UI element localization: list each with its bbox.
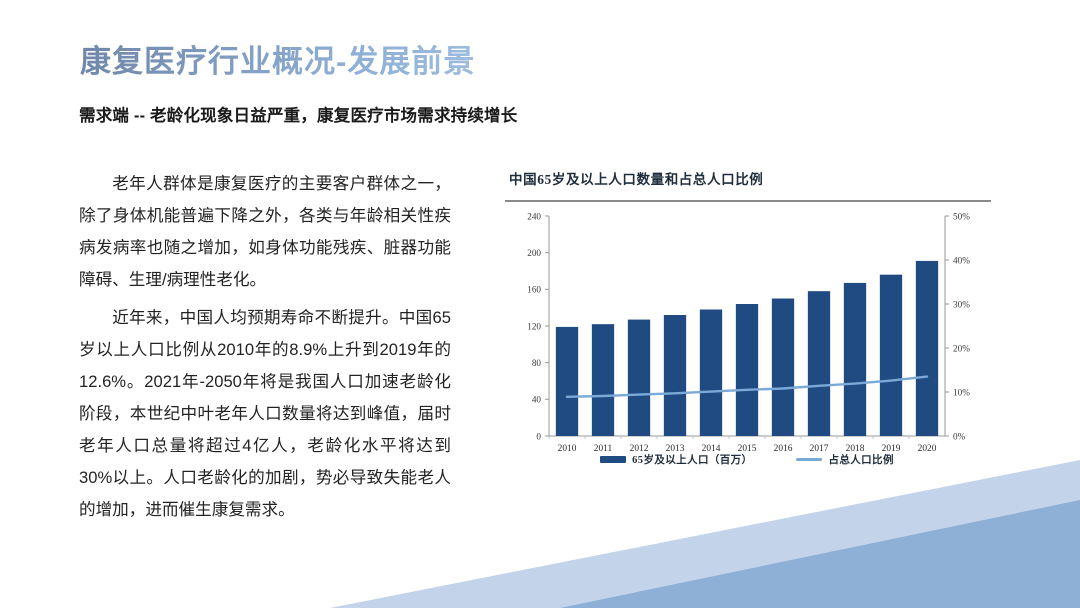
svg-text:80: 80 (532, 358, 542, 368)
svg-text:200: 200 (527, 248, 541, 258)
page-subtitle: 需求端 -- 老龄化现象日益严重，康复医疗市场需求持续增长 (79, 102, 517, 126)
svg-text:30%: 30% (953, 299, 970, 309)
chart-panel: 中国65岁及以上人口数量和占总人口比例 040801201602002400%1… (497, 160, 997, 532)
legend-label-line: 占总人口比例 (828, 452, 893, 467)
body-text-column: 老年人群体是康复医疗的主要客户群体之一，除了身体机能普遍下降之外，各类与年龄相关… (79, 168, 451, 526)
chart-legend: 65岁及以上人口（百万） 占总人口比例 (497, 452, 997, 467)
slide: 康复医疗行业概况-发展前景 需求端 -- 老龄化现象日益严重，康复医疗市场需求持… (0, 0, 1080, 608)
chart-source-note: 数据来源：国家统计局 (893, 496, 987, 509)
svg-text:120: 120 (527, 321, 541, 331)
population-bar-line-chart: 040801201602002400%10%20%30%40%50%201020… (497, 208, 997, 476)
chart-title: 中国65岁及以上人口数量和占总人口比例 (509, 168, 997, 188)
svg-text:50%: 50% (953, 211, 970, 221)
body-paragraph-2: 近年来，中国人均预期寿命不断提升。中国65岁以上人口比例从2010年的8.9%上… (79, 302, 451, 526)
svg-text:0%: 0% (953, 431, 966, 441)
svg-text:160: 160 (527, 285, 541, 295)
legend-item-bars: 65岁及以上人口（百万） (600, 452, 752, 467)
svg-text:240: 240 (527, 211, 541, 221)
svg-text:10%: 10% (953, 387, 970, 397)
legend-label-bars: 65岁及以上人口（百万） (632, 452, 752, 467)
chart-title-divider (505, 200, 991, 202)
chart-plot-area: 040801201602002400%10%20%30%40%50%201020… (497, 208, 997, 476)
body-paragraph-1: 老年人群体是康复医疗的主要客户群体之一，除了身体机能普遍下降之外，各类与年龄相关… (79, 168, 451, 296)
legend-swatch-bar-icon (600, 456, 626, 463)
svg-text:0: 0 (536, 431, 541, 441)
svg-text:20%: 20% (953, 343, 970, 353)
legend-item-line: 占总人口比例 (796, 452, 893, 467)
legend-swatch-line-icon (796, 458, 822, 461)
svg-text:40: 40 (532, 395, 542, 405)
page-title: 康复医疗行业概况-发展前景 (80, 36, 475, 81)
svg-text:40%: 40% (953, 255, 970, 265)
